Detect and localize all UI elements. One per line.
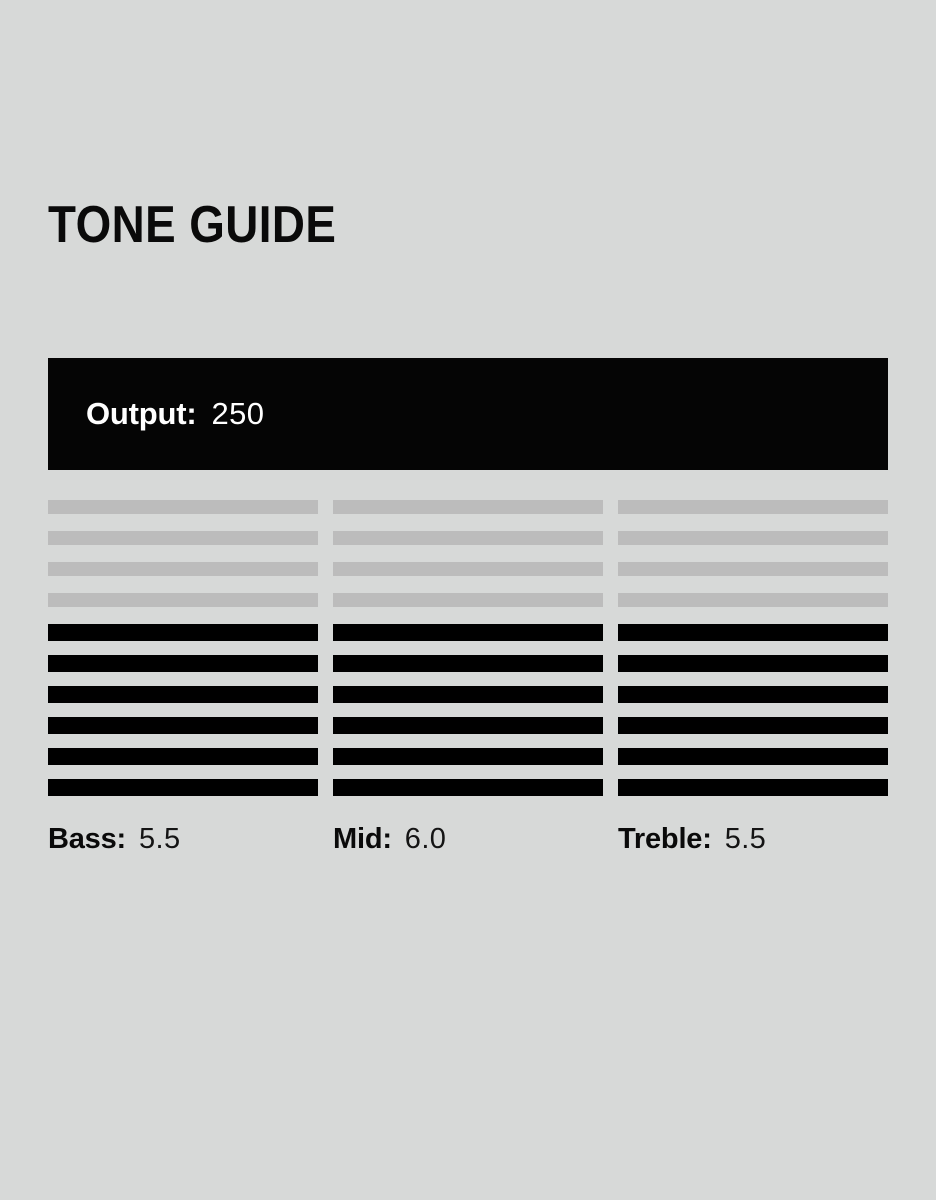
meter-segment-active[interactable] (333, 624, 603, 641)
output-banner: Output: 250 (48, 358, 888, 470)
tone-guide-panel: TONE GUIDE Output: 250 Bass: (0, 0, 936, 1200)
meter-segment-active[interactable] (333, 779, 603, 796)
meter-treble-caption: Treble: 5.5 (618, 823, 888, 856)
meter-mid-label: Mid: (333, 823, 392, 856)
meter-bass-label: Bass: (48, 823, 126, 856)
meter-segment-active[interactable] (333, 717, 603, 734)
meter-segment-inactive[interactable] (618, 593, 888, 607)
output-readout: Output: 250 (48, 396, 264, 432)
output-value: 250 (212, 396, 265, 432)
meter-bass-value: 5.5 (139, 823, 181, 856)
meter-segment-active[interactable] (333, 686, 603, 703)
meter-segment-active[interactable] (618, 655, 888, 672)
meter-mid-segments[interactable] (333, 500, 603, 796)
meter-segment-active[interactable] (618, 748, 888, 765)
meter-segment-inactive[interactable] (618, 531, 888, 545)
meter-segment-active[interactable] (48, 624, 318, 641)
meter-segment-active[interactable] (618, 686, 888, 703)
meter-treble-segments[interactable] (618, 500, 888, 796)
meter-segment-active[interactable] (48, 779, 318, 796)
meter-segment-active[interactable] (618, 779, 888, 796)
page-title: TONE GUIDE (48, 196, 336, 254)
output-label: Output: (86, 396, 197, 432)
meter-treble: Treble: 5.5 (618, 500, 888, 856)
meter-segment-inactive[interactable] (333, 593, 603, 607)
meter-mid-value: 6.0 (405, 823, 447, 856)
meter-segment-inactive[interactable] (618, 562, 888, 576)
meter-segment-active[interactable] (48, 655, 318, 672)
meter-segment-active[interactable] (333, 655, 603, 672)
meter-segment-inactive[interactable] (48, 593, 318, 607)
meter-mid: Mid: 6.0 (333, 500, 603, 856)
meter-segment-inactive[interactable] (333, 531, 603, 545)
meter-mid-caption: Mid: 6.0 (333, 823, 603, 856)
meter-segment-inactive[interactable] (48, 562, 318, 576)
meter-segment-active[interactable] (333, 748, 603, 765)
meter-segment-inactive[interactable] (333, 500, 603, 514)
meter-segment-active[interactable] (48, 686, 318, 703)
meter-bass-caption: Bass: 5.5 (48, 823, 318, 856)
meter-treble-value: 5.5 (725, 823, 767, 856)
meter-segment-inactive[interactable] (333, 562, 603, 576)
meter-bass: Bass: 5.5 (48, 500, 318, 856)
meter-segment-active[interactable] (48, 717, 318, 734)
meter-segment-active[interactable] (618, 717, 888, 734)
meter-segment-active[interactable] (48, 748, 318, 765)
meter-segment-inactive[interactable] (48, 531, 318, 545)
meter-treble-label: Treble: (618, 823, 712, 856)
meter-bass-segments[interactable] (48, 500, 318, 796)
meter-group: Bass: 5.5 Mid: 6.0 (48, 500, 888, 856)
meter-segment-inactive[interactable] (618, 500, 888, 514)
meter-segment-inactive[interactable] (48, 500, 318, 514)
meter-segment-active[interactable] (618, 624, 888, 641)
